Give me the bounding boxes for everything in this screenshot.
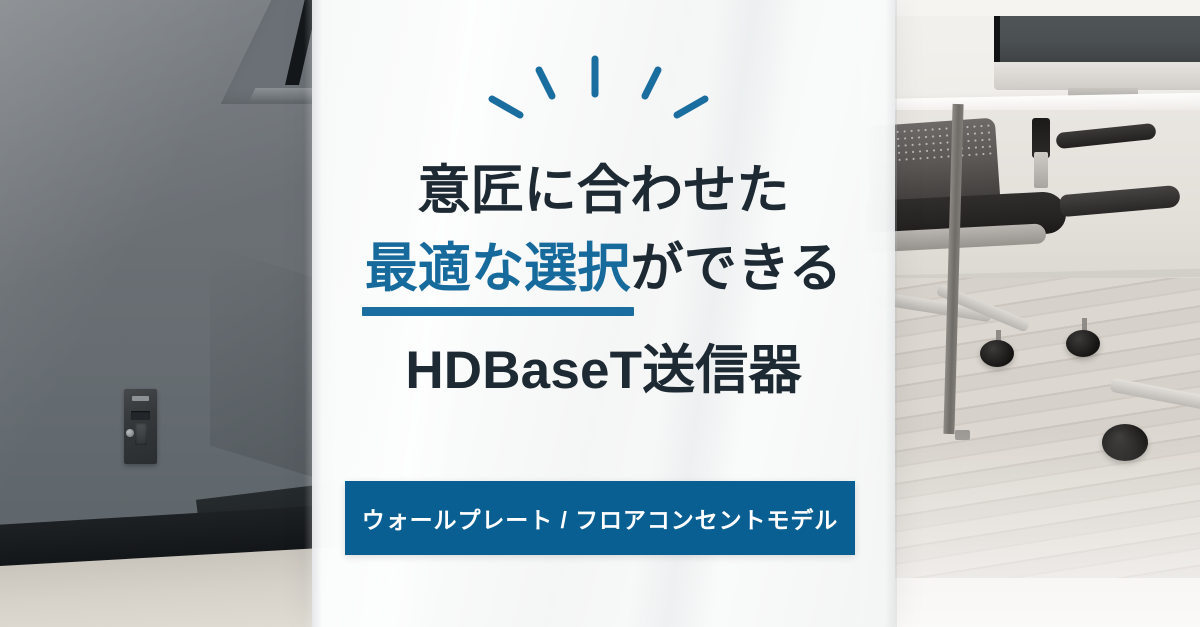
chair-caster-1	[980, 340, 1014, 367]
left-background-photo	[0, 0, 340, 627]
sparkle-burst-icon	[312, 46, 895, 126]
wall-plate-device	[124, 389, 157, 464]
hero-content: 意匠に合わせた 最適な選択ができる HDBaseT送信器 ウォールプレート / …	[312, 0, 895, 627]
headline-line-1: 意匠に合わせた	[312, 152, 895, 230]
headline-line-2-rest: ができる	[631, 239, 843, 298]
hero-banner: 意匠に合わせた 最適な選択ができる HDBaseT送信器 ウォールプレート / …	[0, 0, 1200, 627]
burst-ray-2	[539, 70, 552, 96]
burst-ray-5	[677, 99, 705, 115]
wall-plate-port	[135, 423, 147, 445]
headline-line-3: HDBaseT送信器	[312, 332, 895, 410]
chair-caster-2	[1066, 330, 1100, 357]
page-title: 意匠に合わせた 最適な選択ができる HDBaseT送信器	[312, 152, 895, 410]
wall-plate-brand-label	[132, 396, 149, 401]
floor-light-glow	[870, 430, 1200, 627]
monitor-chin	[994, 62, 1200, 90]
status-badge-label: ウォールプレート / フロアコンセントモデル	[362, 501, 838, 535]
headline-line-2: 最適な選択ができる	[312, 230, 895, 308]
wall-plate-slot	[131, 411, 150, 420]
wall-plate-knob	[126, 429, 134, 437]
status-badge: ウォールプレート / フロアコンセントモデル	[345, 481, 855, 555]
burst-ray-4	[645, 70, 658, 96]
burst-ray-1	[492, 99, 520, 115]
chair-gas-cylinder	[1034, 152, 1048, 188]
headline-highlight: 最適な選択	[365, 239, 631, 300]
right-background-photo	[860, 0, 1200, 627]
right-photo-top-strip	[860, 0, 1200, 16]
